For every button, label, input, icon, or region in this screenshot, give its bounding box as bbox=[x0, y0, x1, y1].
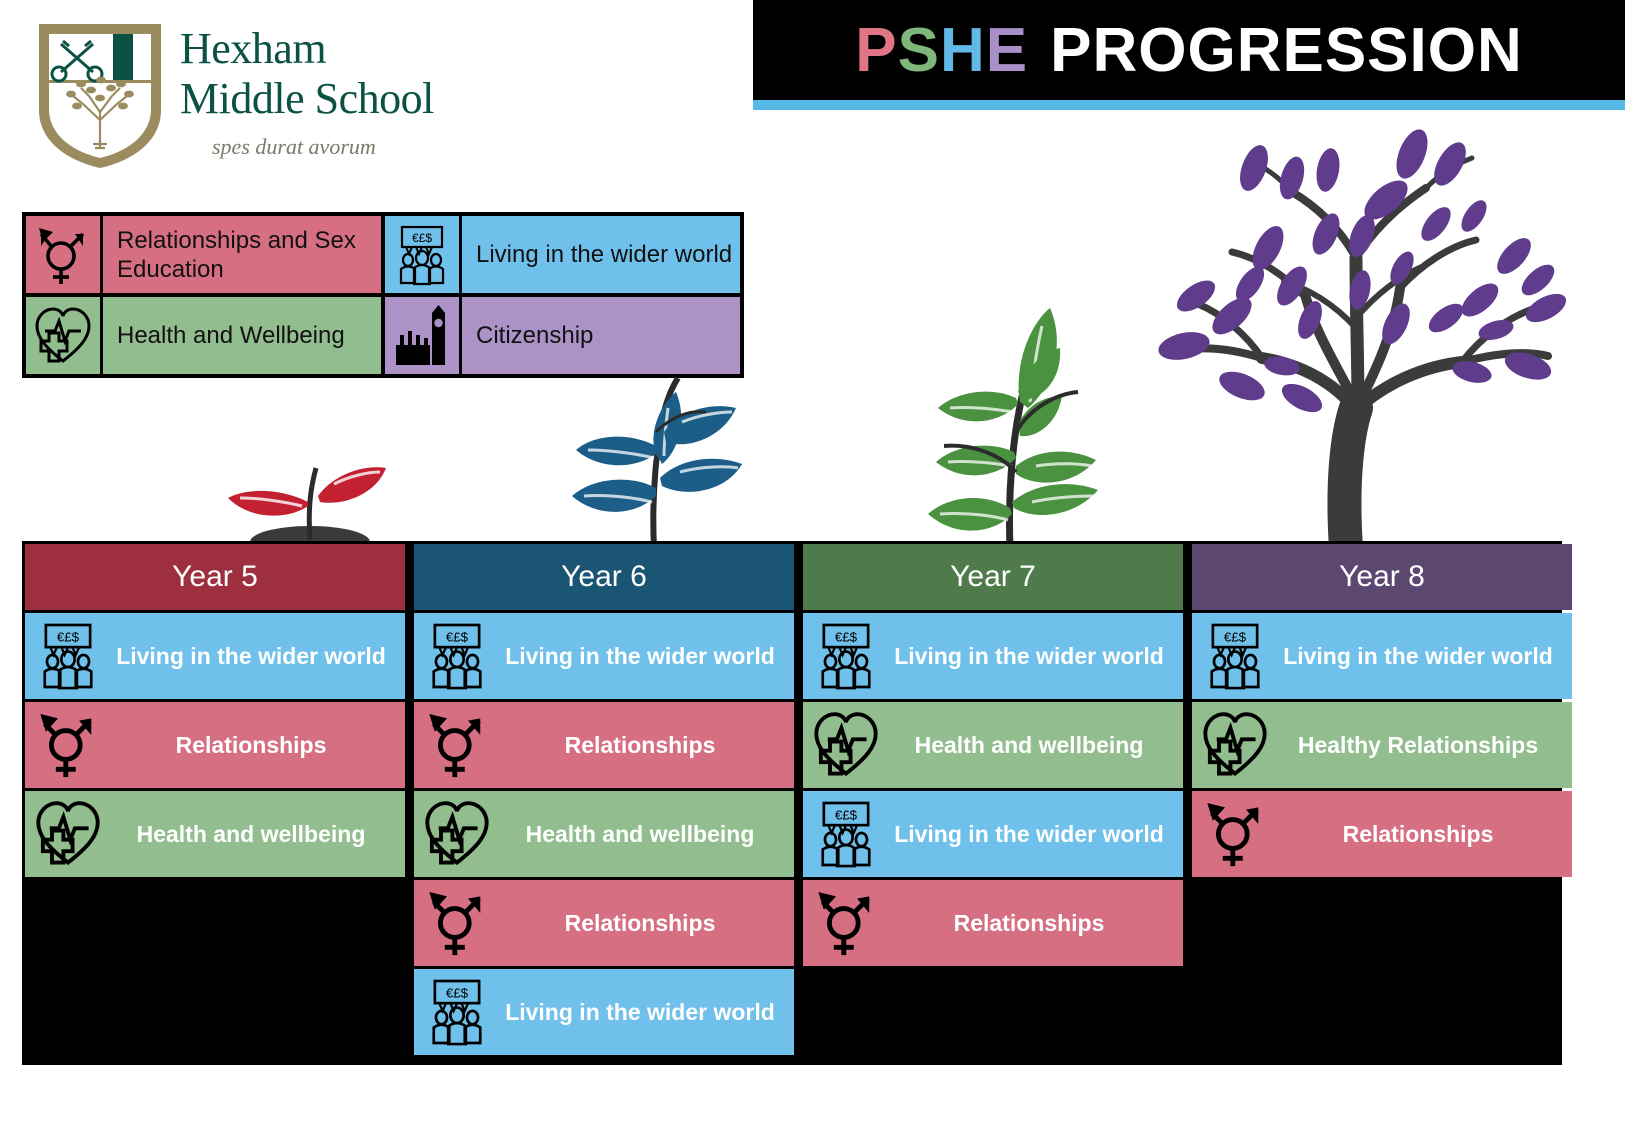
money-people-icon: €£$ bbox=[809, 798, 883, 870]
title-text: PSHE PROGRESSION bbox=[753, 0, 1625, 100]
heart-pulse-cross-icon bbox=[31, 798, 105, 870]
heart-pulse-cross-icon bbox=[420, 798, 494, 870]
cell-label: Health and wellbeing bbox=[494, 821, 794, 848]
green-young-plant bbox=[920, 296, 1110, 550]
money-people-icon: €£$ bbox=[809, 620, 883, 692]
cell-health-wellbeing[interactable]: Health and wellbeing bbox=[25, 791, 405, 877]
cell-relationships[interactable]: Relationships bbox=[803, 880, 1183, 966]
progression-grid: Year 5 €£$ Living in the wider world bbox=[22, 541, 1562, 1065]
svg-text:€£$: €£$ bbox=[446, 630, 469, 645]
title-letter-H: H bbox=[940, 16, 986, 85]
year-column-8: Year 8 €£$ Living in the wider world Hea… bbox=[1189, 541, 1575, 877]
cell-label: Relationships bbox=[1272, 821, 1572, 848]
year-header-8: Year 8 bbox=[1192, 544, 1572, 610]
cell-label: Health and wellbeing bbox=[883, 732, 1183, 759]
cell-relationships[interactable]: Relationships bbox=[414, 702, 794, 788]
gender-symbols-icon bbox=[31, 708, 105, 782]
cell-label: Living in the wider world bbox=[494, 999, 794, 1026]
gender-symbols-icon bbox=[1198, 797, 1272, 871]
svg-text:€£$: €£$ bbox=[57, 630, 80, 645]
cell-label: Health and wellbeing bbox=[105, 821, 405, 848]
cell-label: Living in the wider world bbox=[494, 643, 794, 670]
title-pshe-letters: PSHE bbox=[855, 15, 1028, 86]
title-letter-E: E bbox=[986, 16, 1028, 85]
cell-label: Relationships bbox=[883, 910, 1183, 937]
cell-label: Healthy Relationships bbox=[1272, 732, 1572, 759]
school-name-line1: Hexham bbox=[180, 24, 720, 74]
year-header-7: Year 7 bbox=[803, 544, 1183, 610]
cell-lww[interactable]: €£$ Living in the wider world bbox=[803, 613, 1183, 699]
money-people-icon: €£$ bbox=[420, 620, 494, 692]
cell-lww[interactable]: €£$ Living in the wider world bbox=[414, 613, 794, 699]
title-letter-S: S bbox=[898, 16, 940, 85]
svg-text:€£$: €£$ bbox=[835, 630, 858, 645]
heart-pulse-cross-icon bbox=[809, 709, 883, 781]
year-column-7: Year 7 €£$ Living in the wider world Hea… bbox=[800, 541, 1186, 966]
growth-illustrations bbox=[0, 100, 1625, 545]
svg-text:€£$: €£$ bbox=[835, 808, 858, 823]
cell-label: Relationships bbox=[494, 732, 794, 759]
year-header-5: Year 5 bbox=[25, 544, 405, 610]
cell-relationships[interactable]: Relationships bbox=[414, 880, 794, 966]
gender-symbols-icon bbox=[809, 886, 883, 960]
cell-relationships[interactable]: Relationships bbox=[25, 702, 405, 788]
gender-symbols-icon bbox=[420, 708, 494, 782]
cell-lww[interactable]: €£$ Living in the wider world bbox=[25, 613, 405, 699]
heart-pulse-cross-icon bbox=[1198, 709, 1272, 781]
year-column-6: Year 6 €£$ Living in the wider world bbox=[411, 541, 797, 1055]
cell-lww[interactable]: €£$ Living in the wider world bbox=[803, 791, 1183, 877]
title-banner: PSHE PROGRESSION bbox=[753, 0, 1625, 100]
purple-mature-tree bbox=[1150, 118, 1570, 548]
cell-relationships[interactable]: Relationships bbox=[1192, 791, 1572, 877]
year-header-6: Year 6 bbox=[414, 544, 794, 610]
money-people-icon: €£$ bbox=[420, 976, 494, 1048]
title-letter-P: P bbox=[855, 16, 897, 85]
cell-healthy-relationships[interactable]: Healthy Relationships bbox=[1192, 702, 1572, 788]
cell-label: Relationships bbox=[105, 732, 405, 759]
money-people-icon: €£$ bbox=[1198, 620, 1272, 692]
cell-label: Living in the wider world bbox=[883, 821, 1183, 848]
svg-text:€£$: €£$ bbox=[1224, 630, 1247, 645]
cell-lww[interactable]: €£$ Living in the wider world bbox=[414, 969, 794, 1055]
money-people-icon: €£$ bbox=[31, 620, 105, 692]
cell-label: Relationships bbox=[494, 910, 794, 937]
svg-text:€£$: €£$ bbox=[446, 986, 469, 1001]
cell-label: Living in the wider world bbox=[1272, 643, 1572, 670]
cell-health-wellbeing[interactable]: Health and wellbeing bbox=[414, 791, 794, 877]
year-column-5: Year 5 €£$ Living in the wider world bbox=[22, 541, 408, 877]
red-seedling-plant bbox=[210, 420, 410, 550]
blue-sapling-plant bbox=[560, 368, 750, 550]
title-progression-word: PROGRESSION bbox=[1050, 15, 1523, 86]
cell-label: Living in the wider world bbox=[883, 643, 1183, 670]
gender-symbols-icon bbox=[420, 886, 494, 960]
cell-health-wellbeing[interactable]: Health and wellbeing bbox=[803, 702, 1183, 788]
cell-lww[interactable]: €£$ Living in the wider world bbox=[1192, 613, 1572, 699]
cell-label: Living in the wider world bbox=[105, 643, 405, 670]
